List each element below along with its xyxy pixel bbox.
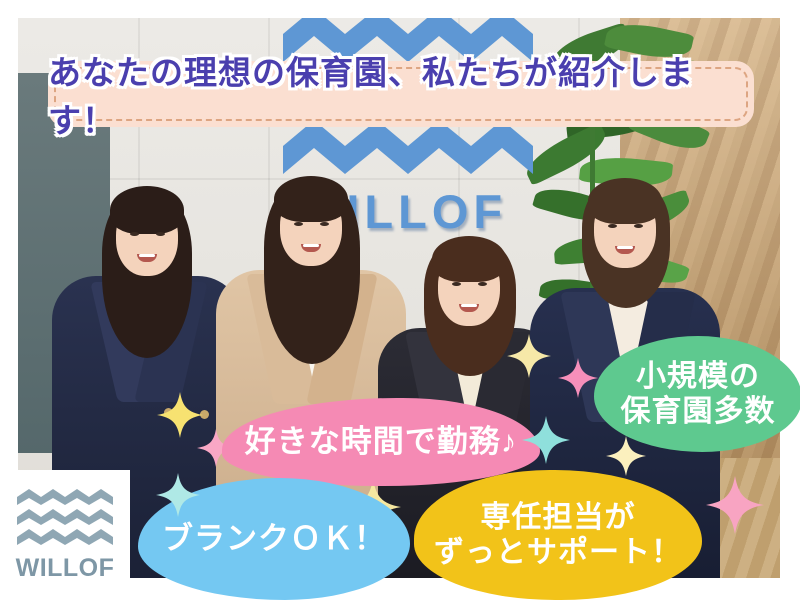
person-3-hair-top	[432, 236, 506, 282]
sparkle-pink-2-icon	[558, 358, 598, 403]
bubble-small-nurseries: 小規模の保育園多数	[594, 336, 800, 452]
headline-banner: あなたの理想の保育園、私たちが紹介します！	[48, 61, 754, 127]
logo-zigzag-icon	[17, 529, 113, 545]
headline-text: あなたの理想の保育園、私たちが紹介します！	[48, 46, 754, 142]
sparkle-yellow-3-icon	[507, 334, 551, 383]
banner-canvas: WILLOF	[0, 0, 800, 600]
willof-logo: WILLOF	[0, 470, 130, 600]
person-4-hair-top	[588, 178, 662, 224]
logo-wordmark: WILLOF	[16, 554, 115, 583]
logo-zigzag-icon	[17, 509, 113, 525]
sparkle-cyan-1-icon	[156, 473, 200, 522]
bubble-small-nurseries-text: 小規模の保育園多数	[621, 359, 776, 430]
sparkle-pink-3-icon	[706, 476, 764, 539]
logo-zigzag-icon	[17, 489, 113, 505]
person-1-hair-top	[110, 186, 184, 234]
bubble-flexible-hours-text: 好きな時間で勤務♪	[245, 424, 518, 461]
person-2-hair-top	[274, 176, 348, 222]
bubble-dedicated-support-text: 専任担当がずっとサポート！	[434, 500, 682, 571]
sparkle-yellow-1-icon	[157, 392, 203, 443]
sparkle-cyan-2-icon	[522, 416, 570, 469]
sparkle-yellow-4-icon	[606, 436, 646, 481]
bubble-blank-ok-text: ブランクＯＫ！	[162, 521, 386, 558]
